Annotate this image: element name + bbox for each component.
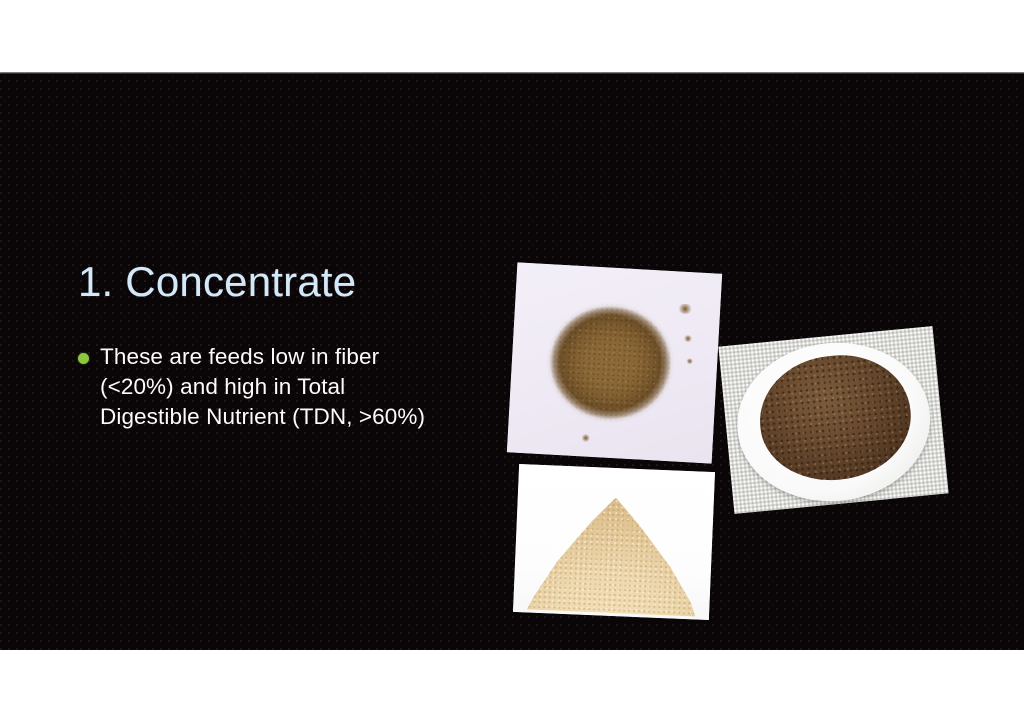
bullet-text-block: These are feeds low in fiber (<20%) and … bbox=[100, 342, 425, 432]
bullet-list-item: These are feeds low in fiber (<20%) and … bbox=[78, 342, 478, 432]
slide-title: 1. Concentrate bbox=[78, 257, 356, 307]
slide-top-divider bbox=[0, 72, 1024, 74]
slide-canvas: 1. Concentrate These are feeds low in fi… bbox=[0, 72, 1024, 650]
slide-page: 1. Concentrate These are feeds low in fi… bbox=[0, 0, 1024, 724]
bullet-line-1: These are feeds low in fiber bbox=[100, 342, 425, 372]
dark-meal-photo bbox=[718, 326, 948, 514]
bullet-line-3: Digestible Nutrient (TDN, >60%) bbox=[100, 402, 425, 432]
cream-pile-photo-content bbox=[513, 464, 715, 620]
bullet-dot-icon bbox=[78, 353, 89, 364]
cream-pile-photo bbox=[513, 464, 715, 620]
cream-pile-texture bbox=[527, 494, 700, 616]
bullet-line-2: (<20%) and high in Total bbox=[100, 372, 425, 402]
brown-powder-speck bbox=[683, 335, 692, 342]
brown-powder-photo bbox=[507, 262, 722, 463]
cream-pile-cone bbox=[527, 494, 700, 616]
brown-powder-speck bbox=[686, 358, 693, 364]
brown-powder-photo-content bbox=[507, 262, 722, 463]
